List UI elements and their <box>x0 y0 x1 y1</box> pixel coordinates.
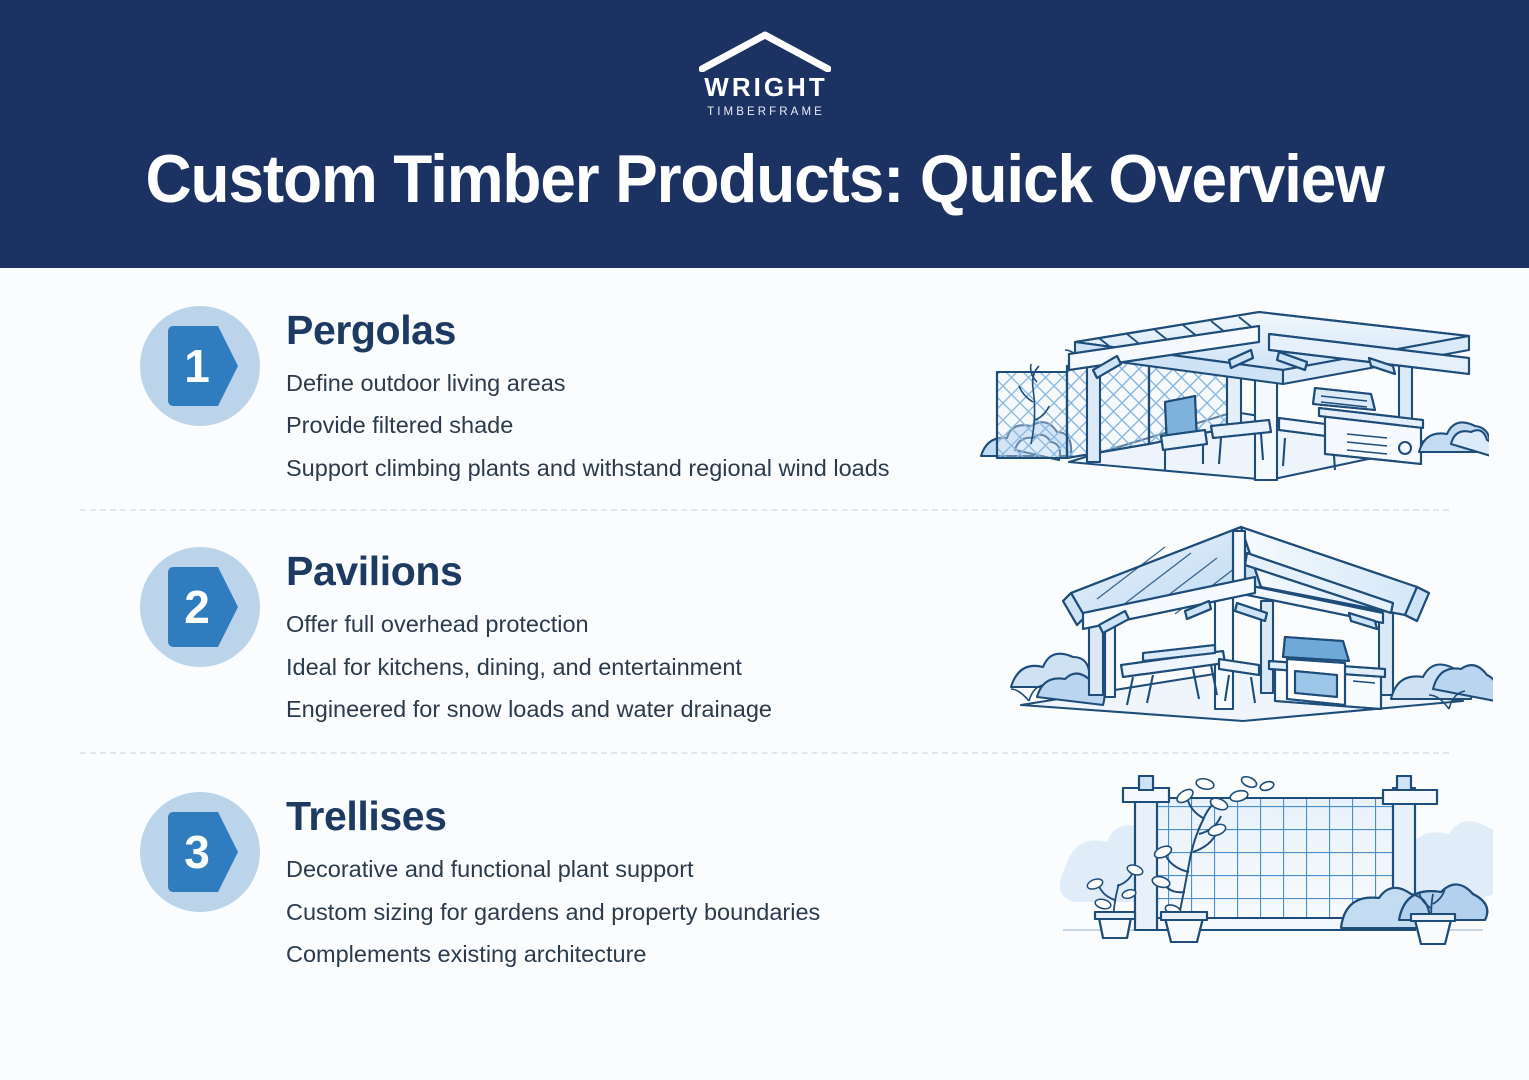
section-trellises: 3 Trellises Decorative and functional pl… <box>0 754 1529 1001</box>
infographic-page: WRIGHT TIMBERFRAME Custom Timber Product… <box>0 0 1529 1080</box>
trellis-illustration <box>1053 760 1493 960</box>
brand-name: WRIGHT <box>701 74 827 100</box>
section-heading: Pergolas <box>286 308 960 353</box>
section-bullet: Define outdoor living areas <box>286 367 960 400</box>
section-bullet: Engineered for snow loads and water drai… <box>286 693 960 726</box>
section-badge-2: 2 <box>140 547 260 667</box>
section-badge-1: 1 <box>140 306 260 426</box>
section-text-1: Pergolas Define outdoor living areas Pro… <box>260 306 960 485</box>
pergola-illustration <box>969 284 1489 484</box>
section-bullet: Support climbing plants and withstand re… <box>286 452 960 485</box>
section-heading: Trellises <box>286 794 960 839</box>
section-bullet: Custom sizing for gardens and property b… <box>286 896 960 929</box>
section-bullet: Provide filtered shade <box>286 409 960 442</box>
section-heading: Pavilions <box>286 549 960 594</box>
section-bullet: Decorative and functional plant support <box>286 853 960 886</box>
section-text-3: Trellises Decorative and functional plan… <box>260 792 960 971</box>
brand-tagline: TIMBERFRAME <box>704 107 825 119</box>
section-badge-3: 3 <box>140 792 260 912</box>
page-header: WRIGHT TIMBERFRAME Custom Timber Product… <box>0 0 1529 268</box>
badge-number: 1 <box>162 324 232 408</box>
page-title: Custom Timber Products: Quick Overview <box>145 145 1383 213</box>
badge-number: 2 <box>162 565 232 649</box>
section-bullet: Offer full overhead protection <box>286 608 960 641</box>
section-bullet: Complements existing architecture <box>286 938 960 971</box>
house-roof-icon <box>699 30 831 72</box>
section-pergolas: 1 Pergolas Define outdoor living areas P… <box>0 268 1529 509</box>
badge-number: 3 <box>162 810 232 894</box>
section-bullet: Ideal for kitchens, dining, and entertai… <box>286 651 960 684</box>
brand-logo: WRIGHT TIMBERFRAME <box>685 30 845 119</box>
sections-container: 1 Pergolas Define outdoor living areas P… <box>0 268 1529 1002</box>
pavilion-illustration <box>993 519 1493 729</box>
section-pavilions: 2 Pavilions Offer full overhead protecti… <box>0 511 1529 752</box>
section-text-2: Pavilions Offer full overhead protection… <box>260 547 960 726</box>
